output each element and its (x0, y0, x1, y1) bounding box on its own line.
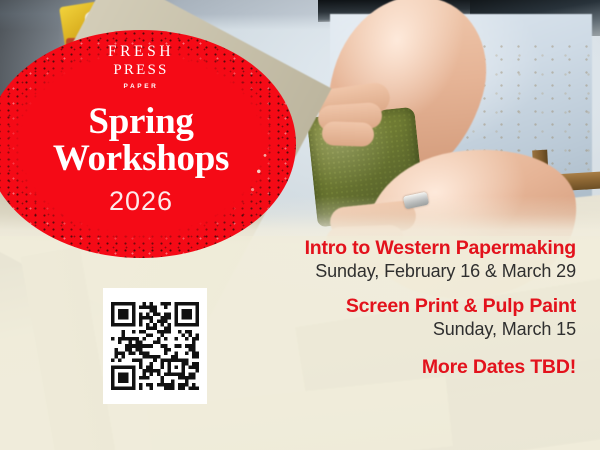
workshop-poster: FRESH PRESS PAPER Spring Workshops 2026 … (0, 0, 600, 450)
headline-line-2: Workshops (53, 141, 229, 176)
qr-code[interactable] (103, 288, 207, 404)
logo-line-fresh: FRESH (108, 44, 174, 60)
photo-finger (322, 121, 375, 147)
event-list: Intro to Western Papermaking Sunday, Feb… (216, 238, 576, 379)
event-item: Intro to Western Papermaking Sunday, Feb… (216, 238, 576, 282)
red-badge: FRESH PRESS PAPER Spring Workshops 2026 (0, 30, 296, 258)
event-title: Screen Print & Pulp Paint (216, 296, 576, 318)
event-item: Screen Print & Pulp Paint Sunday, March … (216, 296, 576, 340)
event-dates: Sunday, February 16 & March 29 (216, 261, 576, 282)
more-dates-note: More Dates TBD! (216, 356, 576, 379)
poster-headline: Spring Workshops (53, 104, 229, 176)
event-dates: Sunday, March 15 (216, 319, 576, 340)
logo-line-press: PRESS (108, 63, 174, 78)
headline-line-1: Spring (88, 101, 193, 142)
event-title: Intro to Western Papermaking (216, 238, 576, 260)
logo-line-paper: PAPER (108, 84, 174, 91)
qr-code-image[interactable] (111, 302, 199, 390)
poster-year: 2026 (109, 186, 173, 217)
brand-logo: FRESH PRESS PAPER (108, 44, 174, 90)
